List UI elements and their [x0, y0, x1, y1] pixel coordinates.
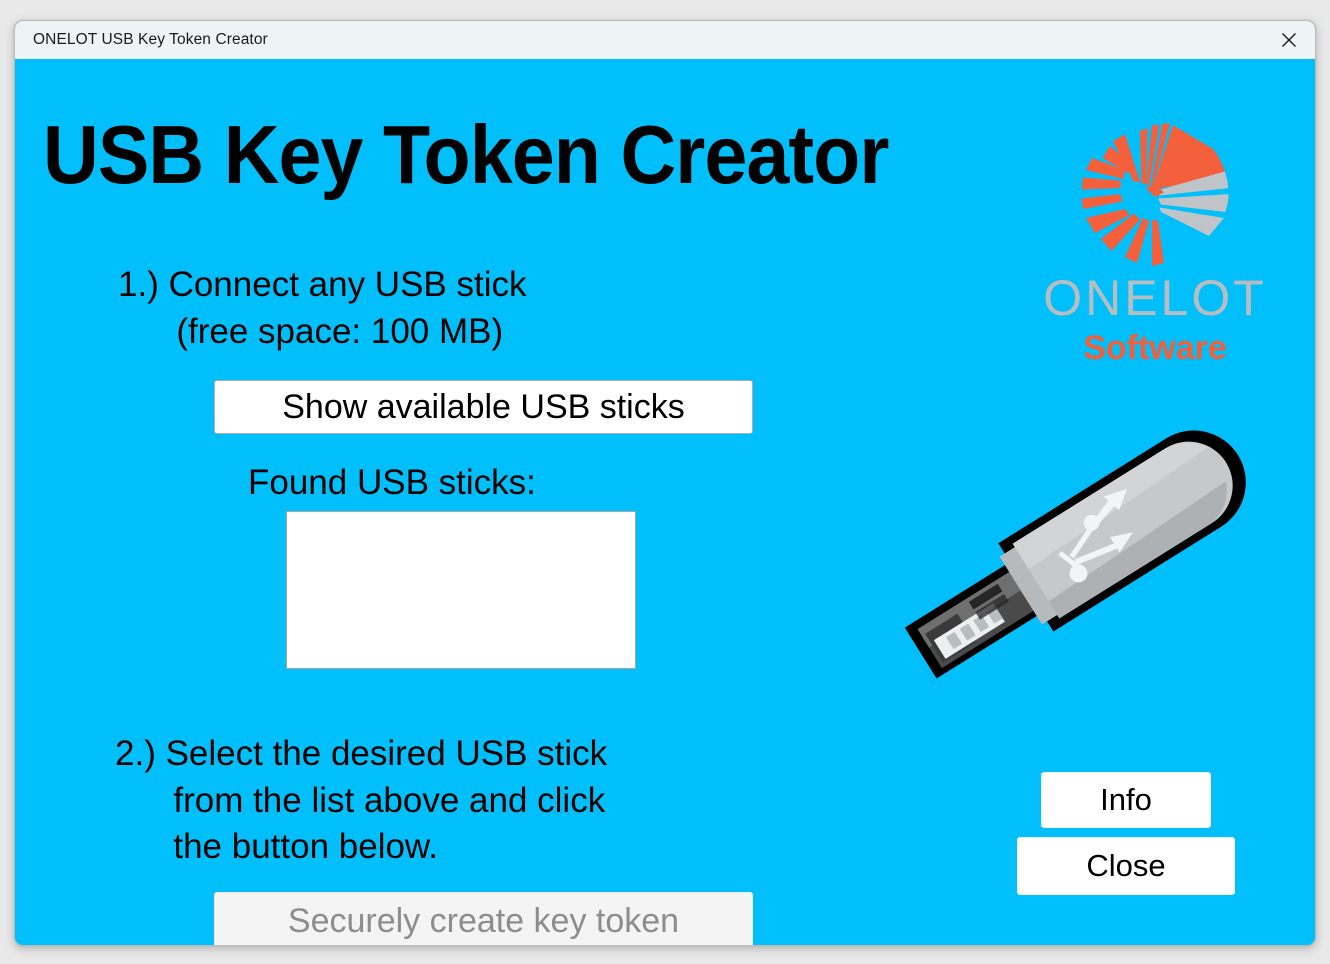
- onelot-circular-emblem-icon: [1080, 119, 1230, 269]
- close-button[interactable]: Close: [1017, 837, 1235, 895]
- close-icon[interactable]: [1263, 21, 1315, 58]
- title-bar: ONELOT USB Key Token Creator: [15, 21, 1315, 59]
- found-usb-sticks-listbox[interactable]: [286, 511, 636, 669]
- step-one-instructions: 1.) Connect any USB stick (free space: 1…: [118, 262, 527, 355]
- usb-flash-drive-illustration: [810, 389, 1310, 729]
- dialog-body: USB Key Token Creator: [15, 59, 1315, 945]
- step-two-instructions: 2.) Select the desired USB stick from th…: [115, 731, 607, 871]
- info-button[interactable]: Info: [1041, 772, 1211, 828]
- logo-wordmark: ONELOT: [1015, 273, 1295, 323]
- logo-subtext: Software: [1015, 331, 1295, 365]
- onelot-logo: ONELOT Software: [1015, 119, 1295, 365]
- found-usb-sticks-label: Found USB sticks:: [248, 463, 536, 503]
- show-available-usb-sticks-button[interactable]: Show available USB sticks: [214, 380, 753, 434]
- window-title: ONELOT USB Key Token Creator: [15, 31, 268, 49]
- securely-create-key-token-button[interactable]: Securely create key token: [214, 892, 753, 946]
- page-title: USB Key Token Creator: [43, 107, 889, 203]
- app-window: ONELOT USB Key Token Creator USB Key Tok…: [14, 20, 1316, 946]
